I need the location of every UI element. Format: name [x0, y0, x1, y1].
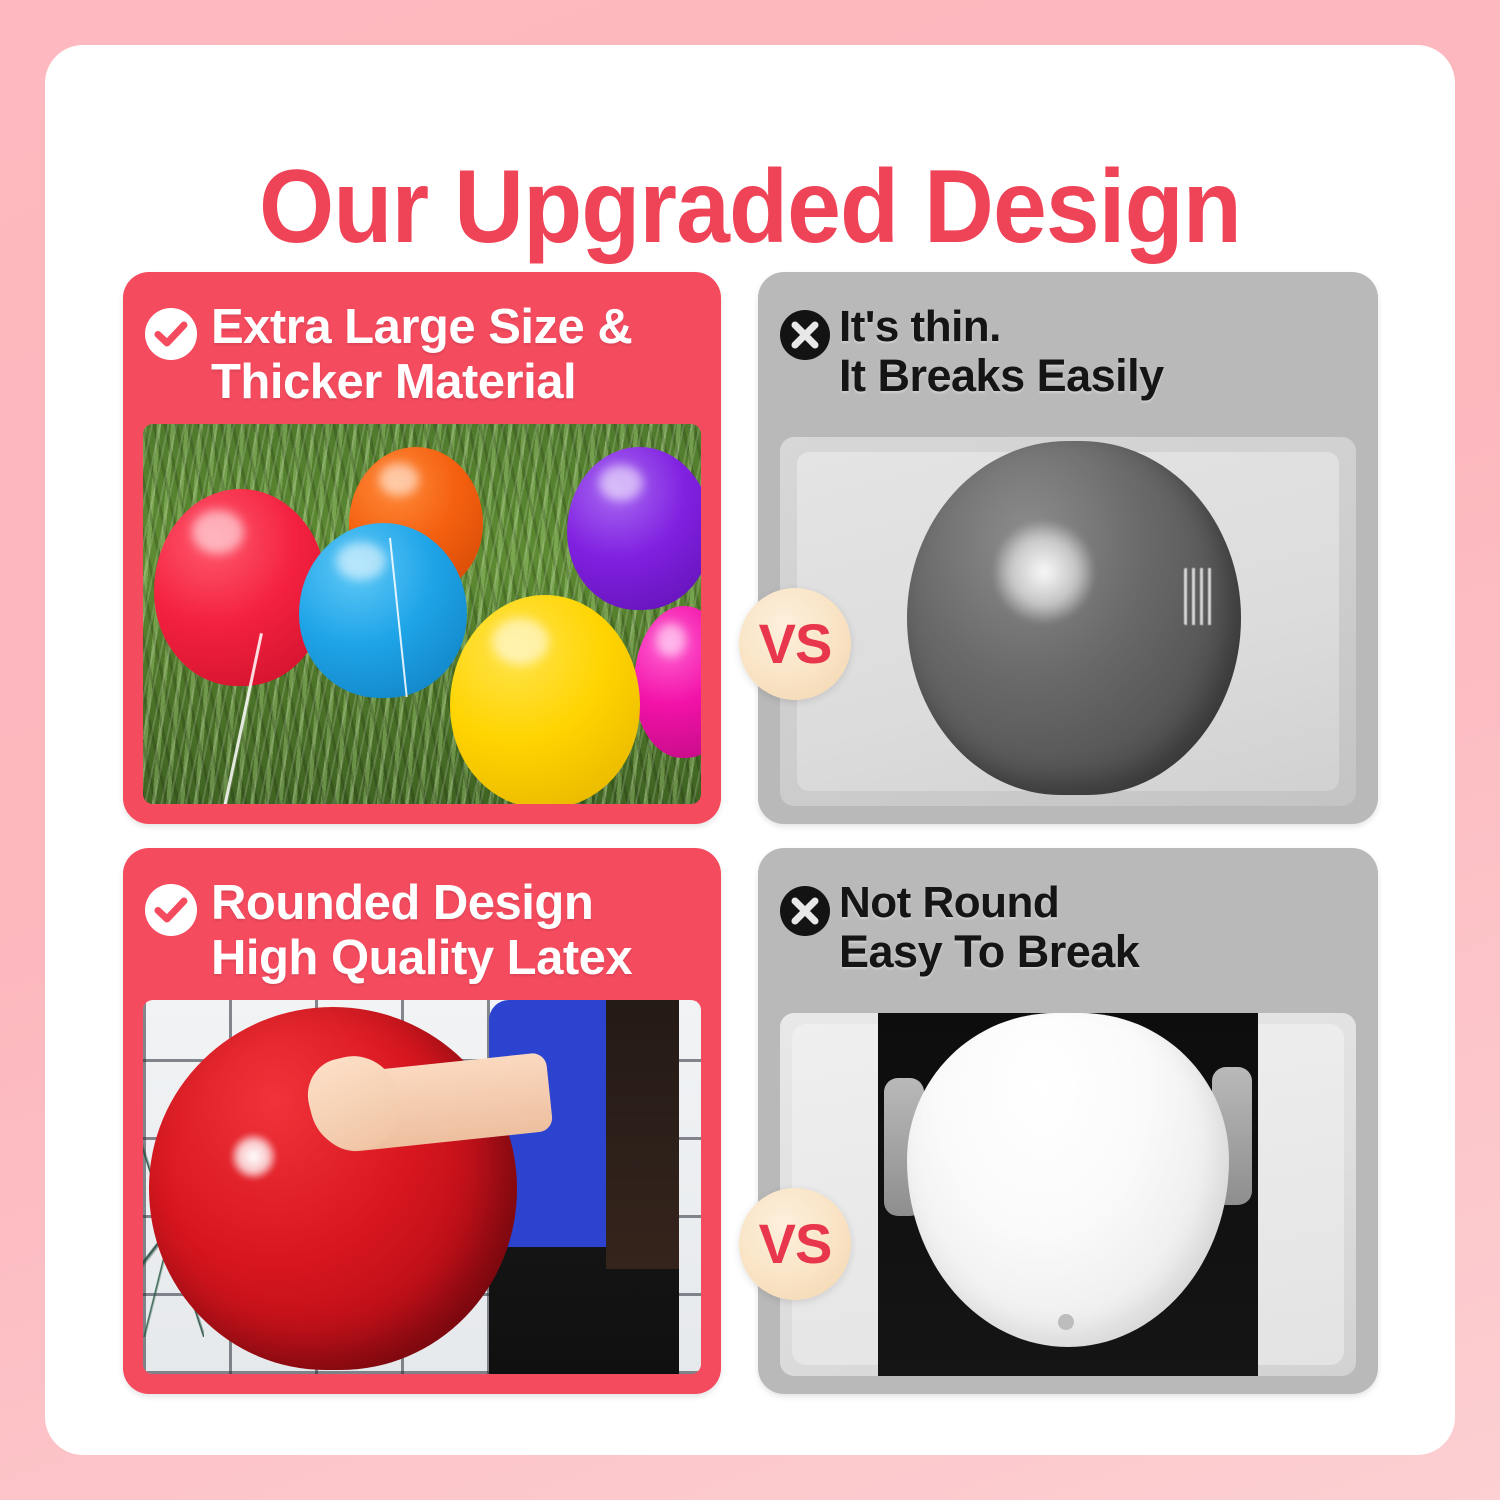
vs-badge-top: VS [739, 588, 851, 700]
panel-bad-bottom-line2: Easy To Break [839, 927, 1139, 977]
x-circle-icon [780, 886, 830, 936]
panel-bad-top[interactable]: It's thin. It Breaks Easily [758, 272, 1378, 824]
check-circle-icon [145, 884, 197, 936]
panel-bad-top-header: It's thin. It Breaks Easily [758, 272, 1378, 427]
balloon-blue [299, 523, 466, 698]
panel-good-bottom-title: Rounded Design High Quality Latex [211, 876, 632, 986]
panel-good-bottom-line2: High Quality Latex [211, 931, 632, 986]
check-circle-icon [145, 308, 197, 360]
panel-bad-bottom-title: Not Round Easy To Break [839, 878, 1139, 978]
panel-good-bottom-header: Rounded Design High Quality Latex [123, 848, 721, 1003]
panel-bad-bottom-header: Not Round Easy To Break [758, 848, 1378, 1003]
x-circle-icon [780, 310, 830, 360]
balloon-knot [1058, 1314, 1074, 1331]
not-round-balloon-photo [780, 1013, 1356, 1376]
balloons-field-photo [143, 424, 701, 804]
panel-good-top-line1: Extra Large Size & [211, 300, 632, 355]
panel-bad-top-line1: It's thin. [839, 302, 1164, 351]
panel-bad-top-line2: It Breaks Easily [839, 351, 1164, 401]
vs-badge-bottom-label: VS [759, 1216, 832, 1272]
thin-balloon-photo [780, 437, 1356, 806]
outer-pink-frame: Our Upgraded Design Extra Large Size & T… [0, 0, 1500, 1500]
balloon-purple [567, 447, 701, 610]
panel-good-top[interactable]: Extra Large Size & Thicker Material [123, 272, 721, 824]
balloon-dark-grey [907, 441, 1241, 795]
balloon-red [154, 489, 327, 687]
panel-good-top-header: Extra Large Size & Thicker Material [123, 272, 721, 427]
vs-badge-bottom: VS [739, 1188, 851, 1300]
panel-good-bottom-line1: Rounded Design [211, 876, 632, 931]
panel-bad-bottom-line1: Not Round [839, 878, 1139, 927]
vs-badge-top-label: VS [759, 616, 832, 672]
panel-bad-top-title: It's thin. It Breaks Easily [839, 302, 1164, 402]
panel-good-top-title: Extra Large Size & Thicker Material [211, 300, 632, 410]
panel-good-top-line2: Thicker Material [211, 355, 632, 410]
panel-good-bottom[interactable]: Rounded Design High Quality Latex [123, 848, 721, 1394]
comparison-grid: Extra Large Size & Thicker Material [45, 45, 1455, 1455]
main-card: Our Upgraded Design Extra Large Size & T… [45, 45, 1455, 1455]
panel-bad-bottom[interactable]: Not Round Easy To Break [758, 848, 1378, 1394]
woman-hair [606, 1000, 679, 1269]
balloon-yellow [450, 595, 640, 804]
red-balloon-photo [143, 1000, 701, 1374]
